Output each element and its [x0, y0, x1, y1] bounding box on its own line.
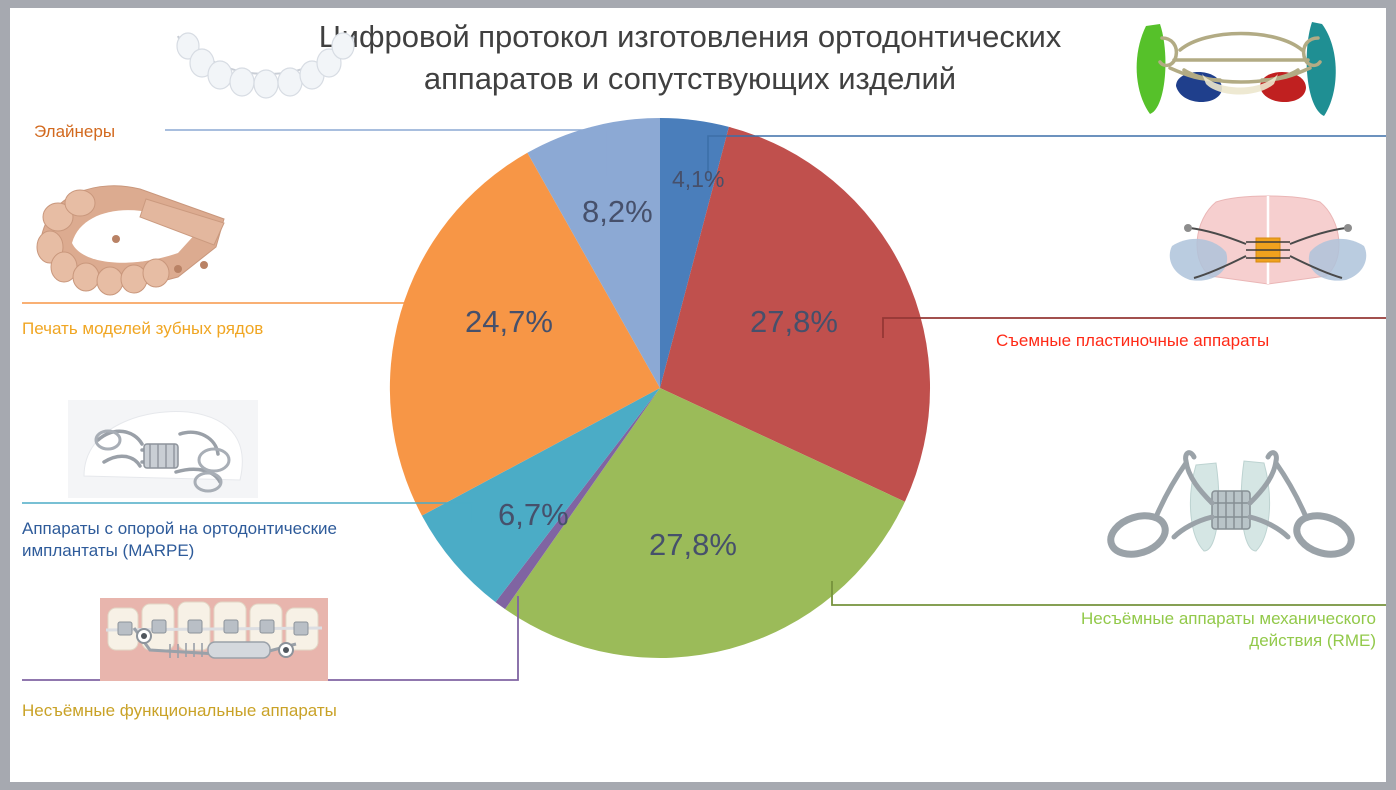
pie-slice-marpe — [422, 388, 660, 602]
callout-label-printed-models: Печать моделей зубных рядов — [22, 318, 263, 340]
pie-slice-other — [660, 118, 729, 388]
pie-label-removable-plates: 27,8% — [750, 304, 838, 340]
marpe-appliance-photo — [68, 400, 258, 498]
connector-aligners — [165, 130, 606, 176]
callout-label-rme: Несъёмные аппараты механического действи… — [930, 608, 1376, 652]
callout-label-aligners: Элайнеры — [34, 121, 115, 143]
pie-slice-aligners — [527, 118, 660, 388]
pie-label-printed-models: 24,7% — [465, 304, 553, 340]
connector-rme — [832, 581, 1386, 605]
aligner-photo — [158, 18, 373, 123]
twin-block-appliance-photo — [1110, 14, 1372, 124]
connector-other — [708, 136, 1386, 173]
printed-models-photo — [28, 173, 240, 298]
callout-label-fixed-functional: Несъёмные функциональные аппараты — [22, 700, 337, 722]
callout-label-removable-plates: Съемные пластиночные аппараты — [996, 330, 1269, 352]
fixed-functional-appliance-photo — [100, 598, 328, 681]
pie-label-marpe: 6,7% — [498, 497, 569, 533]
slide-canvas: Цифровой протокол изготовления ортодонти… — [10, 8, 1386, 782]
rme-expander-photo — [1090, 433, 1370, 583]
removable-plate-photo — [1156, 194, 1381, 304]
callout-label-marpe: Аппараты с опорой на ортодонтические имп… — [22, 518, 442, 562]
page-title: Цифровой протокол изготовления ортодонти… — [290, 16, 1090, 100]
pie-label-other: 4,1% — [672, 166, 724, 193]
pie-label-aligners: 8,2% — [582, 194, 653, 230]
pie-chart — [390, 118, 930, 658]
pie-label-rme: 27,8% — [649, 527, 737, 563]
slide-frame: Цифровой протокол изготовления ортодонти… — [0, 0, 1396, 790]
